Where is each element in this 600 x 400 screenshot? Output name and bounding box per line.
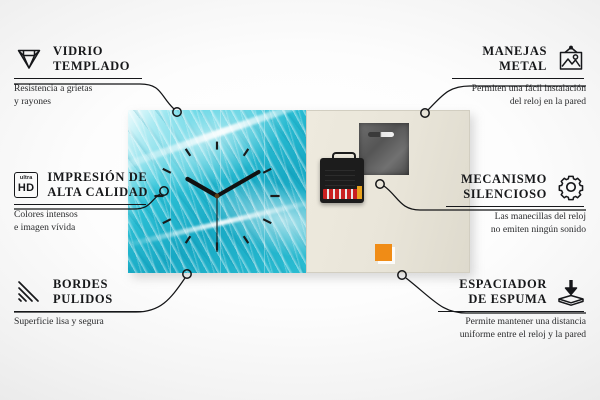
framed-picture-hanger-icon <box>556 45 586 73</box>
feature-espaciador-espuma: ESPACIADOR DE ESPUMA Permite mantener un… <box>438 277 586 341</box>
feature-desc-line1: Superficie lisa y segura <box>14 316 146 328</box>
clock-tick <box>244 236 249 243</box>
feature-desc-line1: Las manecillas del reloj <box>446 211 586 223</box>
feature-desc-line2: y rayones <box>14 96 144 108</box>
feature-heading: MECANISMO SILENCIOSO <box>446 172 586 202</box>
feature-divider <box>14 78 142 79</box>
clock-center-cap <box>215 194 220 199</box>
feature-title: VIDRIO TEMPLADO <box>53 44 130 74</box>
feature-divider <box>14 204 146 205</box>
battery-terminal <box>357 186 362 199</box>
feature-heading: VIDRIO TEMPLADO <box>14 44 144 74</box>
feature-title: BORDES PULIDOS <box>53 277 113 307</box>
product-image <box>128 110 470 273</box>
hd-badge-main: HD <box>18 183 35 194</box>
feature-heading: MANEJAS METAL <box>452 44 586 74</box>
gear-icon <box>556 173 586 201</box>
clock-face-panel <box>128 110 306 273</box>
feature-desc-line2: e imagen vívida <box>14 222 148 234</box>
feature-title-line1: BORDES <box>53 277 113 292</box>
mechanism-ribs <box>325 166 355 186</box>
hd-badge-top: ultra <box>20 176 33 181</box>
feature-desc-line1: Permiten una fácil instalación <box>452 83 586 95</box>
clock-tick <box>186 149 191 156</box>
feature-title-line2: SILENCIOSO <box>461 187 547 202</box>
infographic-canvas: VIDRIO TEMPLADO Resistencia a grietas y … <box>0 0 600 400</box>
clock-tick <box>244 149 249 156</box>
battery <box>323 189 361 199</box>
feature-description: Las manecillas del reloj no emiten ningú… <box>446 211 586 236</box>
feature-description: Colores intensos e imagen vívida <box>14 209 148 234</box>
feature-title-line1: ESPACIADOR <box>459 277 547 292</box>
feature-title-line2: ALTA CALIDAD <box>47 185 148 200</box>
clock-mechanism <box>320 158 364 203</box>
feature-divider <box>452 78 584 79</box>
feature-title: ESPACIADOR DE ESPUMA <box>459 277 547 307</box>
feature-heading: BORDES PULIDOS <box>14 277 146 307</box>
arrow-onto-pad-icon <box>556 278 586 306</box>
feature-desc-line2: uniforme entre el reloj y la pared <box>438 329 586 341</box>
feature-manejas-metal: MANEJAS METAL Permiten una fácil instala… <box>452 44 586 108</box>
feature-title-line1: MECANISMO <box>461 172 547 187</box>
feature-divider <box>446 206 584 207</box>
feature-desc-line2: no emiten ningún sonido <box>446 224 586 236</box>
feature-title: MECANISMO SILENCIOSO <box>461 172 547 202</box>
feature-title-line2: PULIDOS <box>53 292 113 307</box>
clock-tick <box>186 236 191 243</box>
feature-divider <box>14 311 144 312</box>
feature-title: MANEJAS METAL <box>482 44 547 74</box>
clock-tick <box>163 169 171 173</box>
foam-spacer <box>375 244 392 261</box>
clock-hour-hand <box>188 179 217 196</box>
feature-desc-line2: del reloj en la pared <box>452 96 586 108</box>
beveled-edge-icon <box>14 279 44 305</box>
feature-mecanismo-silencioso: MECANISMO SILENCIOSO Las manecillas del … <box>446 172 586 236</box>
feature-heading: ESPACIADOR DE ESPUMA <box>438 277 586 307</box>
clock-tick <box>163 219 171 223</box>
feature-divider <box>438 311 584 312</box>
feature-title-line1: IMPRESIÓN DE <box>47 170 148 185</box>
feature-impresion-alta-calidad: ultra HD IMPRESIÓN DE ALTA CALIDAD Color… <box>14 170 148 234</box>
feature-description: Permite mantener una distancia uniforme … <box>438 316 586 341</box>
clock-tick <box>263 219 271 223</box>
clock-dial <box>128 110 306 273</box>
metal-hanger-plate <box>359 123 409 175</box>
feature-vidrio-templado: VIDRIO TEMPLADO Resistencia a grietas y … <box>14 44 144 108</box>
feature-title-line2: DE ESPUMA <box>459 292 547 307</box>
hanger-slot <box>368 132 394 137</box>
feature-title-line2: TEMPLADO <box>53 59 130 74</box>
feature-desc-line1: Colores intensos <box>14 209 148 221</box>
feature-title: IMPRESIÓN DE ALTA CALIDAD <box>47 170 148 200</box>
feature-title-line1: MANEJAS <box>482 44 547 59</box>
clock-minute-hand <box>217 172 259 196</box>
feature-description: Superficie lisa y segura <box>14 316 146 328</box>
feature-bordes-pulidos: BORDES PULIDOS Superficie lisa y segura <box>14 277 146 329</box>
feature-title-line1: VIDRIO <box>53 44 130 59</box>
diamond-icon <box>14 46 44 72</box>
feature-heading: ultra HD IMPRESIÓN DE ALTA CALIDAD <box>14 170 148 200</box>
ultra-hd-badge-icon: ultra HD <box>14 172 38 198</box>
clock-tick <box>263 169 271 173</box>
mechanism-hook <box>332 152 356 164</box>
feature-title-line2: METAL <box>482 59 547 74</box>
feature-description: Permiten una fácil instalación del reloj… <box>452 83 586 108</box>
feature-desc-line1: Resistencia a grietas <box>14 83 144 95</box>
feature-description: Resistencia a grietas y rayones <box>14 83 144 108</box>
feature-desc-line1: Permite mantener una distancia <box>438 316 586 328</box>
